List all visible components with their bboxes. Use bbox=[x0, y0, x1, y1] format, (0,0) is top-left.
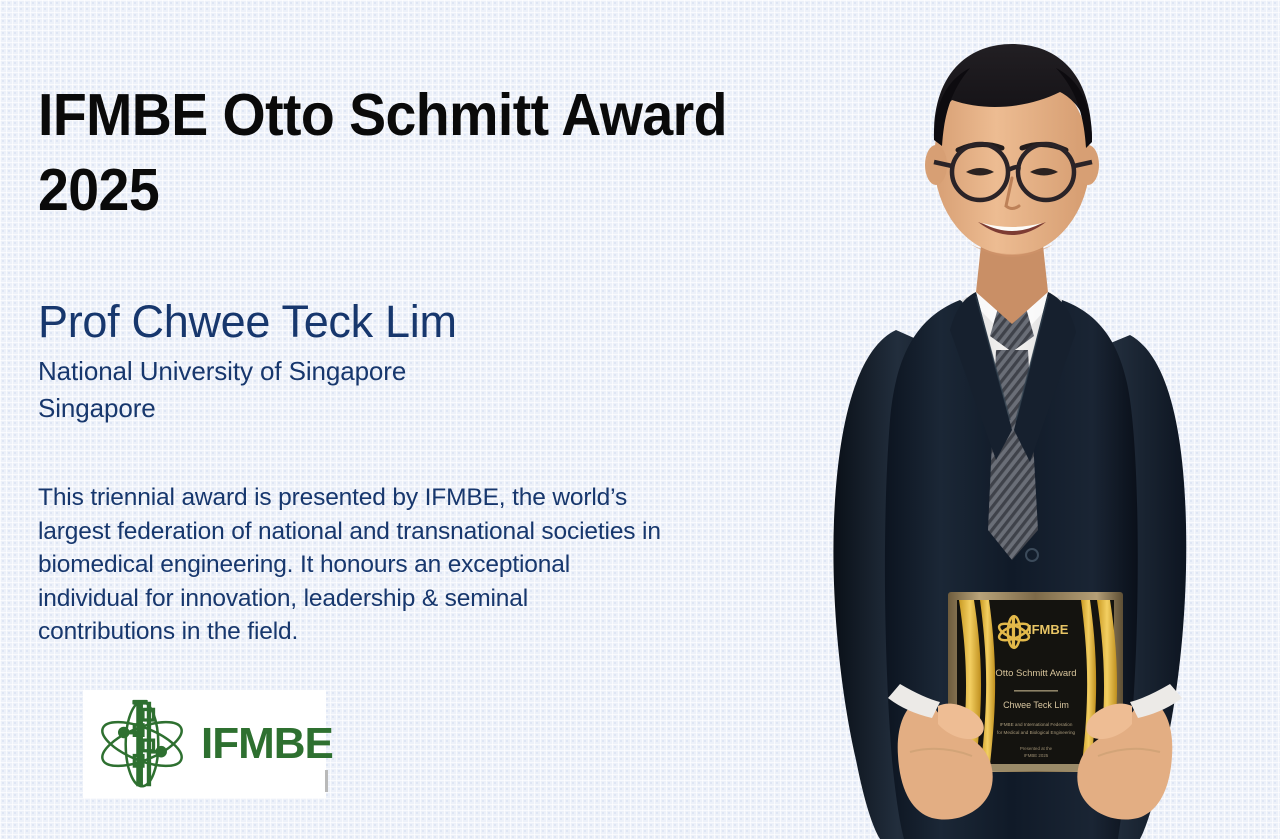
ifmbe-wordmark: IFMBE bbox=[201, 719, 333, 769]
laureate-name: Prof Chwee Teck Lim bbox=[38, 295, 738, 348]
award-slide: IFMBE Otto Schmitt Award 2025 Prof Chwee… bbox=[0, 0, 1280, 839]
logo-edge-mark bbox=[325, 770, 328, 792]
plaque-logo-word: IFMBE bbox=[1028, 622, 1069, 637]
plaque-divider bbox=[1014, 690, 1058, 692]
ifmbe-logo: IFMBE bbox=[83, 690, 326, 798]
laureate-affiliation: National University of Singapore Singapo… bbox=[38, 353, 738, 427]
plaque-citation-2: for Medical and Biological Engineering bbox=[997, 730, 1076, 735]
plaque-award-name: Otto Schmitt Award bbox=[995, 668, 1076, 679]
plaque-recipient: Chwee Teck Lim bbox=[1003, 700, 1069, 710]
laureate-portrait-graphic: IFMBE Otto Schmitt Award Chwee Teck Lim … bbox=[800, 0, 1280, 839]
page-title: IFMBE Otto Schmitt Award 2025 bbox=[38, 78, 771, 228]
plaque-footer-2: IFMBE 2025 bbox=[1024, 753, 1049, 758]
plaque-footer-1: Presented at the bbox=[1020, 746, 1053, 751]
award-description: This triennial award is presented by IFM… bbox=[38, 481, 768, 649]
text-column: IFMBE Otto Schmitt Award 2025 Prof Chwee… bbox=[38, 0, 828, 839]
laureate-photo: IFMBE Otto Schmitt Award Chwee Teck Lim … bbox=[800, 0, 1280, 839]
ifmbe-emblem-icon bbox=[93, 696, 191, 792]
plaque-citation-1: IFMBE and International Federation bbox=[1000, 722, 1073, 727]
